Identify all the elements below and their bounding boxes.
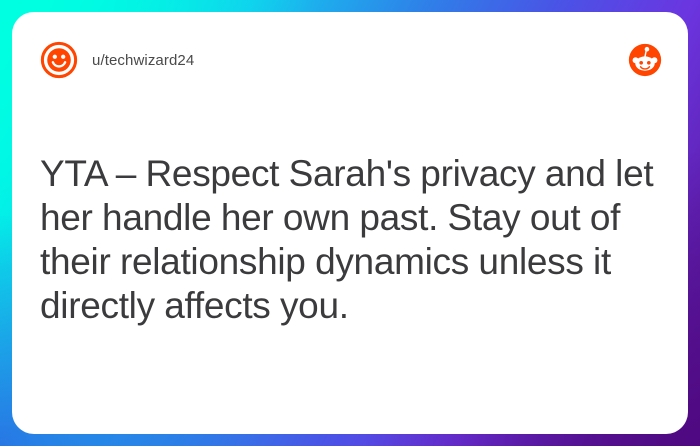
comment-body-text: YTA – Respect Sarah's privacy and let he… [40, 152, 654, 328]
smiley-face-avatar-icon[interactable] [40, 41, 78, 79]
reddit-comment-card: u/techwizard24 YTA – Respect Sarah's pri… [12, 12, 688, 434]
username-label: u/techwizard24 [92, 52, 194, 69]
reddit-snoo-logo-icon[interactable] [628, 43, 662, 77]
card-header: u/techwizard24 [12, 12, 688, 108]
screenshot-root: u/techwizard24 YTA – Respect Sarah's pri… [0, 0, 700, 446]
